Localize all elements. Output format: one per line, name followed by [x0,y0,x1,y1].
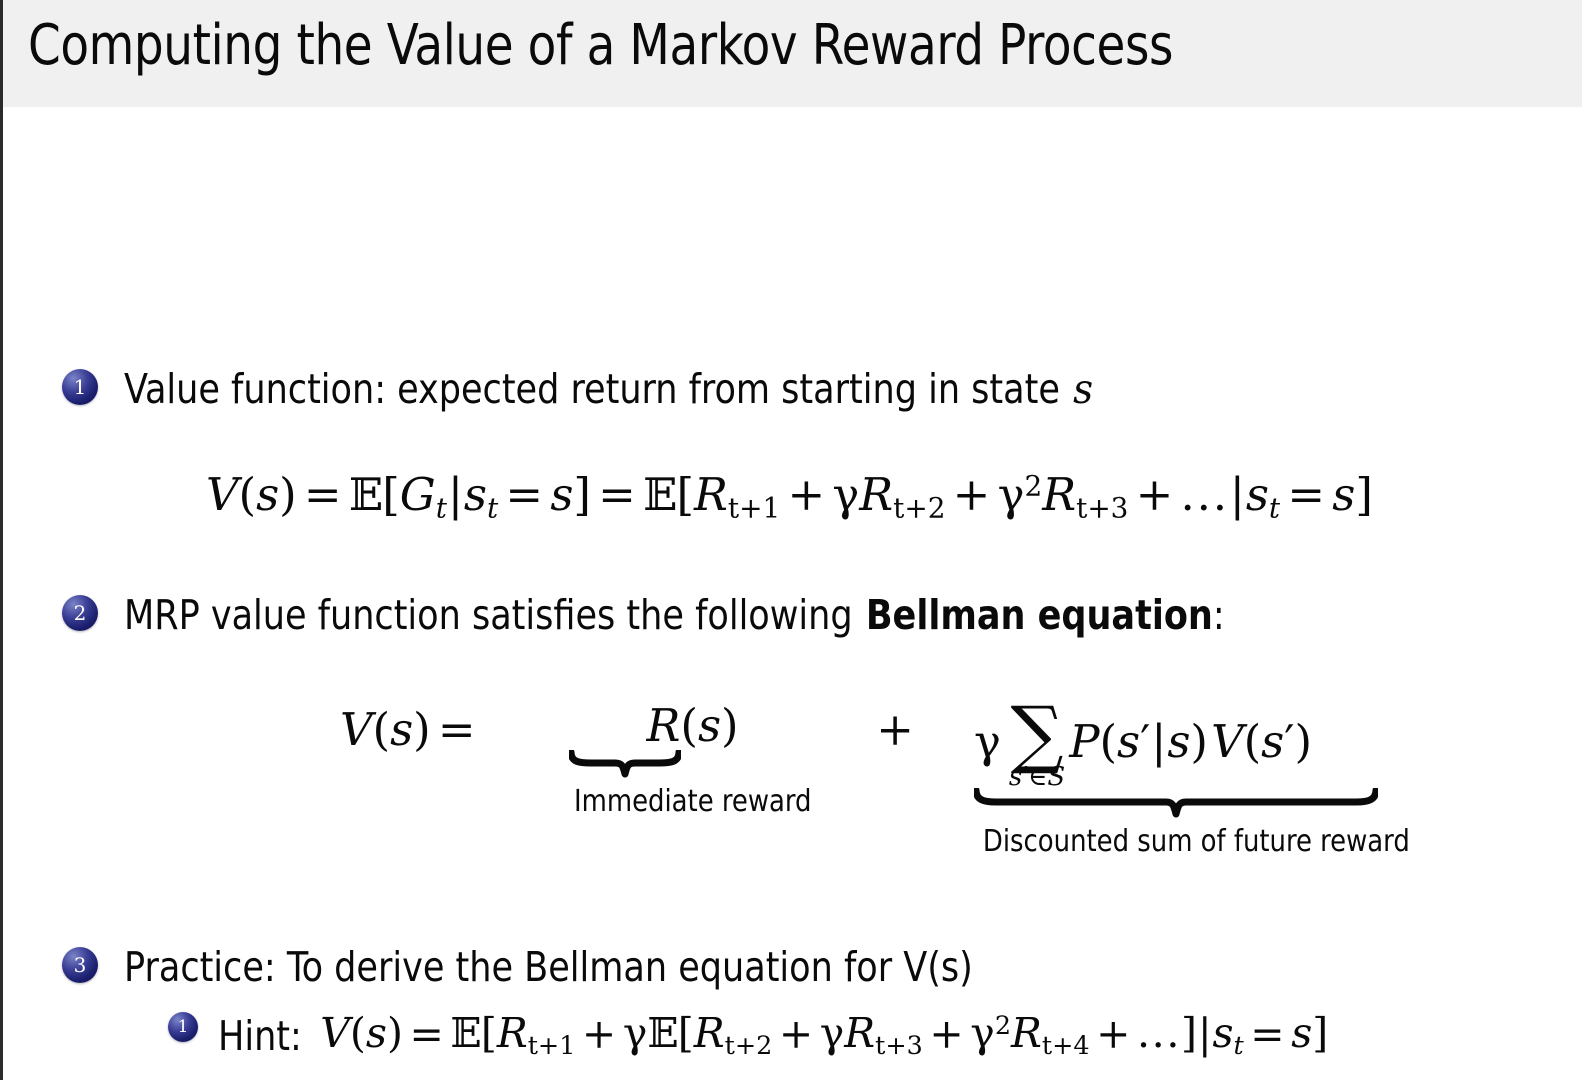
summation-operator: ∑ s′∈S [1009,707,1065,790]
bellman-lhs: V(s)= [340,703,483,752]
list-item-practice: 3 Practice: To derive the Bellman equati… [62,947,1017,988]
list-item-1-label: Value function: expected return from sta… [124,369,1093,410]
bellman-immediate-reward-group: R(s) Immediate reward [569,703,816,819]
transition-value-product: P(s′|s)V(s′) [1069,703,1312,764]
underbrace-icon [569,750,681,780]
equation-hint: V(s)=𝔼[Rt+1+γ𝔼[Rt+2+γRt+3+γ2Rt+4+...]|st… [320,1013,1328,1058]
bellman-equation-emphasis: Bellman equation [866,591,1213,639]
hint-label: Hint: [218,1012,315,1060]
slide-left-border [0,0,3,1080]
bullet-marker-3: 3 [62,947,98,983]
list-item-1-text: Value function: expected return from sta… [124,365,1060,413]
bellman-term-discounted-sum: γ ∑ s′∈S P(s′|s)V(s′) [974,703,1419,786]
page-title: Computing the Value of a Markov Reward P… [28,13,1173,78]
equation-value-function: V(s)=𝔼[Gt|st=s]=𝔼[Rt+1+γRt+2+γ2Rt+3+...|… [206,472,1373,522]
bullet-marker-1: 1 [62,369,98,405]
list-item-2-label: MRP value function satisfies the followi… [124,595,1225,636]
state-symbol: s [1073,365,1093,413]
bellman-operator-plus: + [876,703,914,752]
hint-row: Hint: V(s)=𝔼[Rt+1+γ𝔼[Rt+2+γRt+3+γ2Rt+4+.… [218,1012,1328,1060]
slide-header: Computing the Value of a Markov Reward P… [0,0,1582,107]
list-item-value-function: 1 Value function: expected return from s… [62,369,1144,410]
caption-discounted-sum: Discounted sum of future reward [983,824,1410,859]
list-item-bellman: 2 MRP value function satisfies the follo… [62,595,1283,636]
list-item-2-text-before: MRP value function satisfies the followi… [124,591,853,639]
bullet-marker-sub-1: 1 [168,1012,198,1042]
list-item-hint: 1 Hint: V(s)=𝔼[Rt+1+γ𝔼[Rt+2+γRt+3+γ2Rt+4… [168,1012,1328,1060]
caption-immediate-reward: Immediate reward [574,784,812,819]
slide-body: 1 Value function: expected return from s… [0,107,1582,1080]
gamma-symbol: γ [974,703,1005,764]
bullet-marker-2: 2 [62,595,98,631]
list-item-2-text-after: : [1213,591,1225,639]
summation-limit: s′∈S [1009,764,1065,790]
underbrace-icon [974,788,1378,820]
bellman-discounted-sum-group: γ ∑ s′∈S P(s′|s)V(s′) Discounted sum of … [974,703,1419,859]
equation-bellman: V(s)= R(s) Immediate reward + γ ∑ [340,703,1419,859]
sigma-icon: ∑ [1011,707,1064,762]
bellman-term-immediate-reward: R(s) [646,699,738,752]
list-item-3-label: Practice: To derive the Bellman equation… [124,947,973,988]
